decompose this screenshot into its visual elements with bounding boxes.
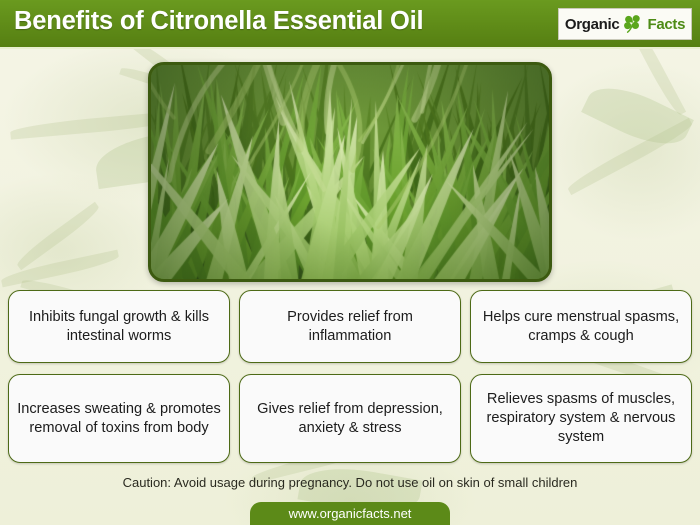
header-bar: Benefits of Citronella Essential Oil Org…	[0, 0, 700, 49]
citronella-photo-canvas	[151, 65, 552, 282]
benefit-box[interactable]: Increases sweating & promotes removal of…	[8, 374, 230, 463]
benefits-row-1: Inhibits fungal growth & kills intestina…	[8, 290, 692, 363]
benefits-grid: Inhibits fungal growth & kills intestina…	[8, 290, 692, 474]
benefit-box[interactable]: Helps cure menstrual spasms, cramps & co…	[470, 290, 692, 363]
benefits-row-2: Increases sweating & promotes removal of…	[8, 374, 692, 463]
logo-word-organic: Organic	[565, 16, 620, 33]
footer-url-text: www.organicfacts.net	[289, 506, 412, 521]
caution-note: Caution: Avoid usage during pregnancy. D…	[0, 475, 700, 490]
footer-url-pill[interactable]: www.organicfacts.net	[250, 502, 450, 525]
benefit-box[interactable]: Provides relief from inflammation	[239, 290, 461, 363]
citronella-photo	[148, 62, 552, 282]
organic-facts-logo[interactable]: Organic Facts	[558, 8, 692, 40]
infographic-root: Benefits of Citronella Essential Oil Org…	[0, 0, 700, 525]
benefit-box[interactable]: Gives relief from depression, anxiety & …	[239, 374, 461, 463]
clover-icon	[621, 12, 645, 36]
benefit-box[interactable]: Inhibits fungal growth & kills intestina…	[8, 290, 230, 363]
logo-word-facts: Facts	[647, 16, 685, 33]
page-title: Benefits of Citronella Essential Oil	[14, 7, 423, 36]
benefit-box[interactable]: Relieves spasms of muscles, respiratory …	[470, 374, 692, 463]
